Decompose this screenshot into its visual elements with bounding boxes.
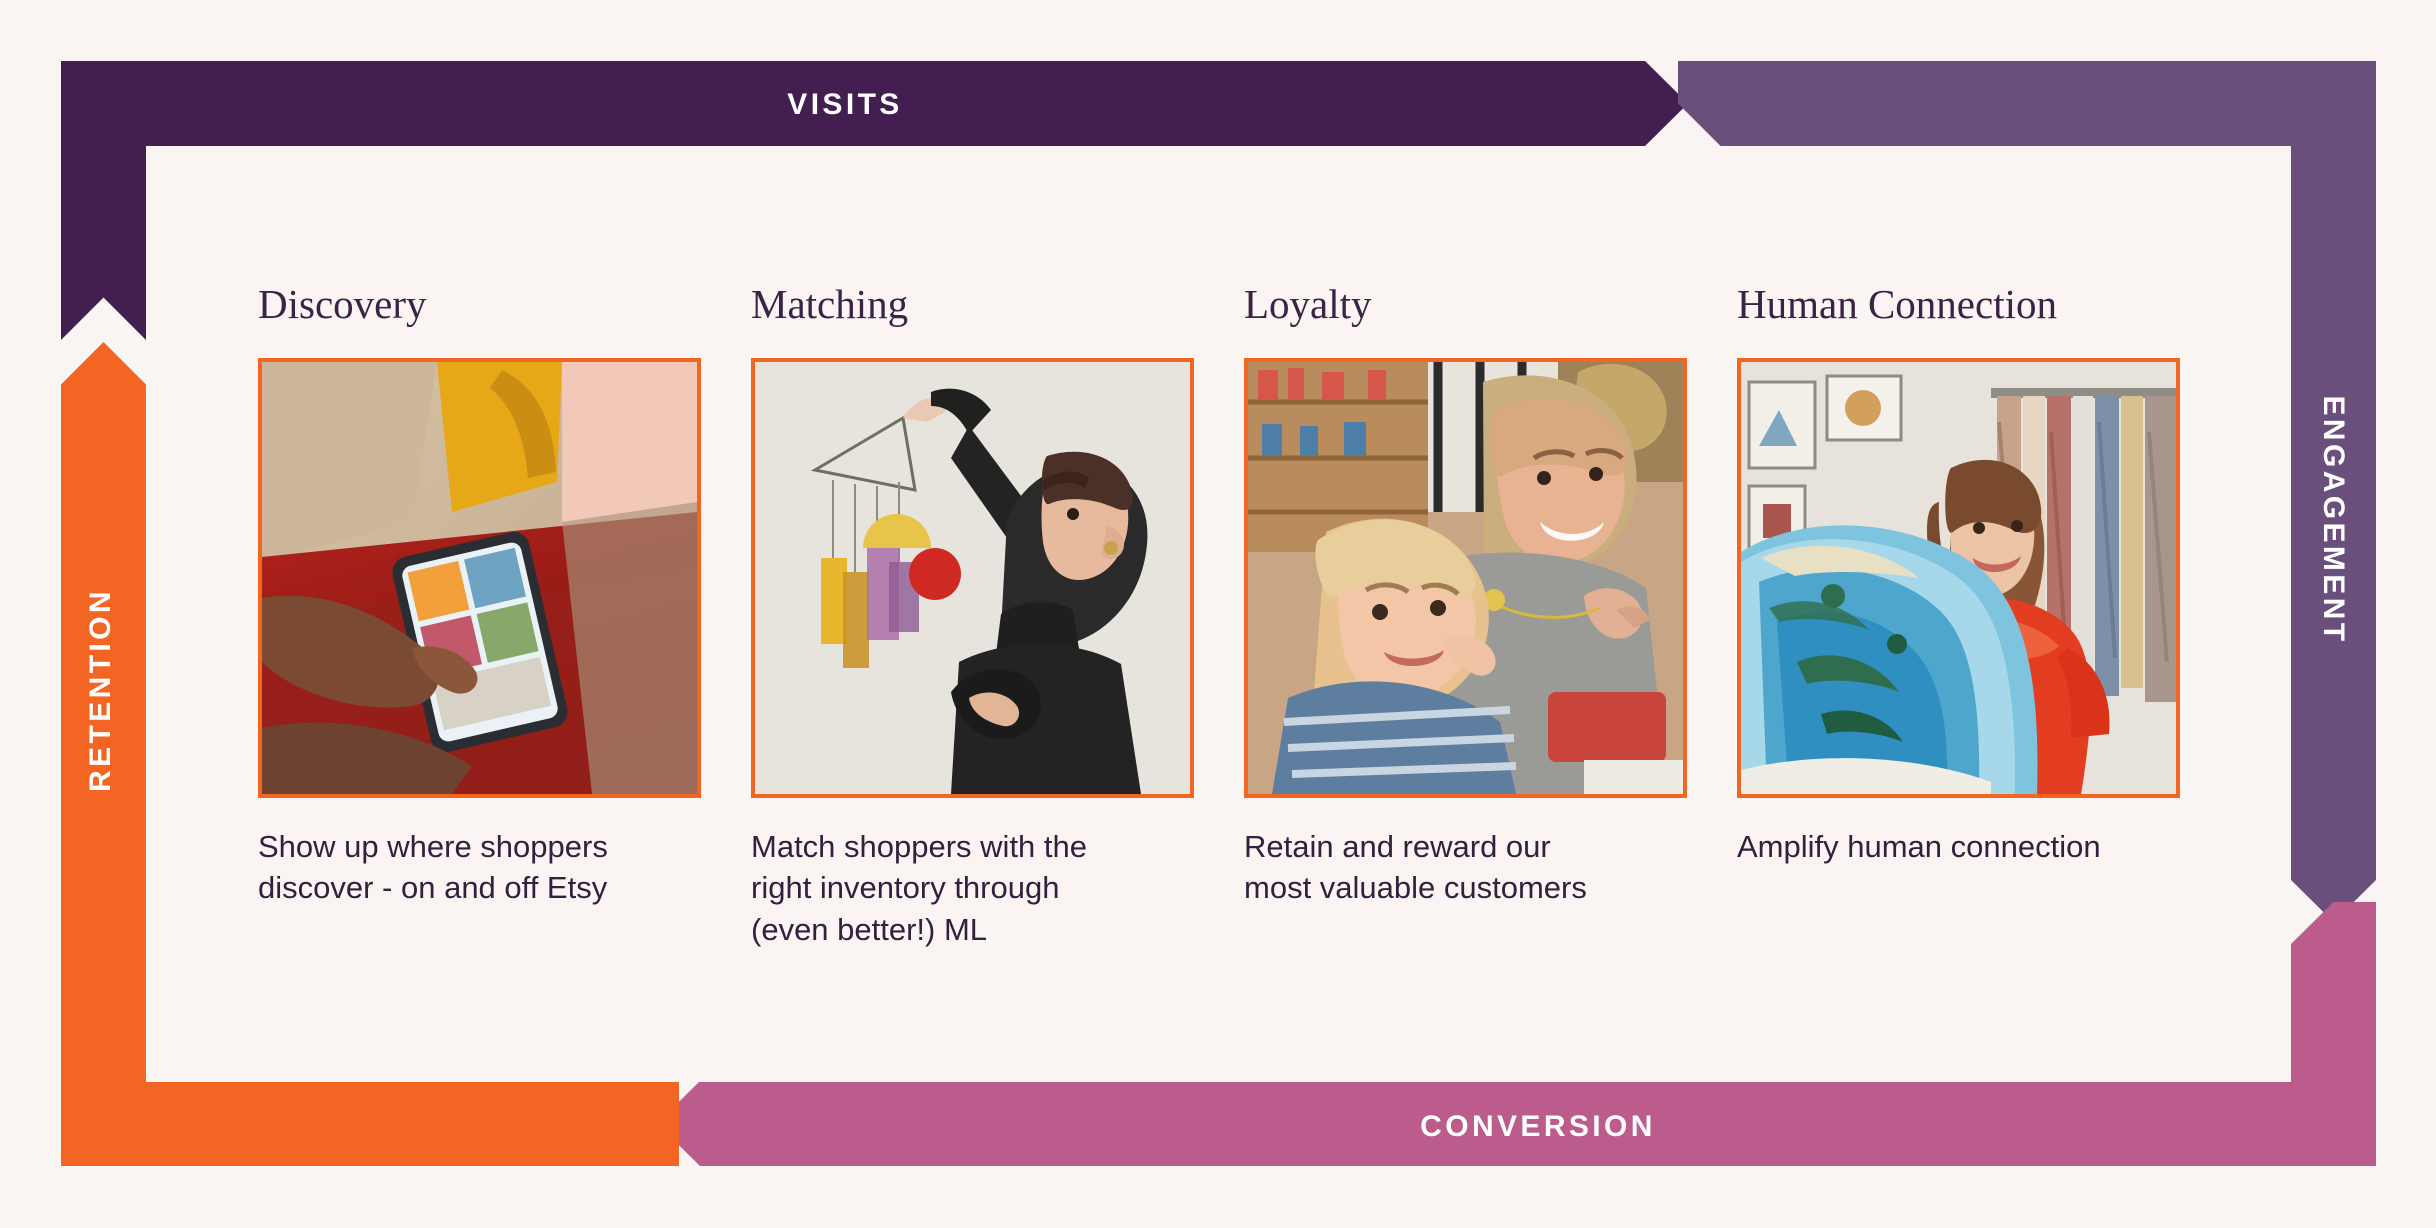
card-description-line: discover - on and off Etsy bbox=[258, 867, 608, 908]
card-description-line: right inventory through bbox=[751, 867, 1087, 908]
card-description-human-connection: Amplify human connection bbox=[1737, 826, 2101, 867]
photo-illustration-discovery bbox=[262, 362, 697, 794]
card-description-matching: Match shoppers with the right inventory … bbox=[751, 826, 1087, 950]
card-loyalty: Loyalty bbox=[1244, 282, 1687, 1002]
card-description-loyalty: Retain and reward our most valuable cust… bbox=[1244, 826, 1587, 908]
card-title-matching: Matching bbox=[751, 282, 908, 327]
card-title-loyalty: Loyalty bbox=[1244, 282, 1372, 327]
band-label-visits: VISITS bbox=[0, 90, 1690, 120]
card-photo-human-connection bbox=[1737, 358, 2180, 798]
diagram-canvas: VISITS ENGAGEMENT CONVERSION RETENTION D… bbox=[0, 0, 2436, 1228]
photo-illustration-loyalty bbox=[1248, 362, 1683, 794]
card-matching: Matching bbox=[751, 282, 1194, 1002]
band-label-retention: RETENTION bbox=[86, 588, 116, 792]
card-photo-matching bbox=[751, 358, 1194, 798]
card-human-connection: Human Connection bbox=[1737, 282, 2180, 1002]
card-description-line: most valuable customers bbox=[1244, 867, 1587, 908]
band-label-conversion: CONVERSION bbox=[700, 1112, 2376, 1142]
card-description-line: Amplify human connection bbox=[1737, 826, 2101, 867]
photo-illustration-matching bbox=[755, 362, 1190, 794]
card-description-line: (even better!) ML bbox=[751, 909, 1087, 950]
card-photo-loyalty bbox=[1244, 358, 1687, 798]
card-photo-discovery bbox=[258, 358, 701, 798]
card-title-discovery: Discovery bbox=[258, 282, 427, 327]
stage-cards-row: Discovery bbox=[258, 282, 2218, 1002]
card-title-human-connection: Human Connection bbox=[1737, 282, 2057, 327]
photo-illustration-human-connection bbox=[1741, 362, 2176, 794]
card-description-line: Retain and reward our bbox=[1244, 826, 1587, 867]
card-description-line: Show up where shoppers bbox=[258, 826, 608, 867]
card-description-line: Match shoppers with the bbox=[751, 826, 1087, 867]
band-label-engagement: ENGAGEMENT bbox=[2318, 395, 2348, 644]
card-description-discovery: Show up where shoppers discover - on and… bbox=[258, 826, 608, 908]
card-discovery: Discovery bbox=[258, 282, 701, 1002]
